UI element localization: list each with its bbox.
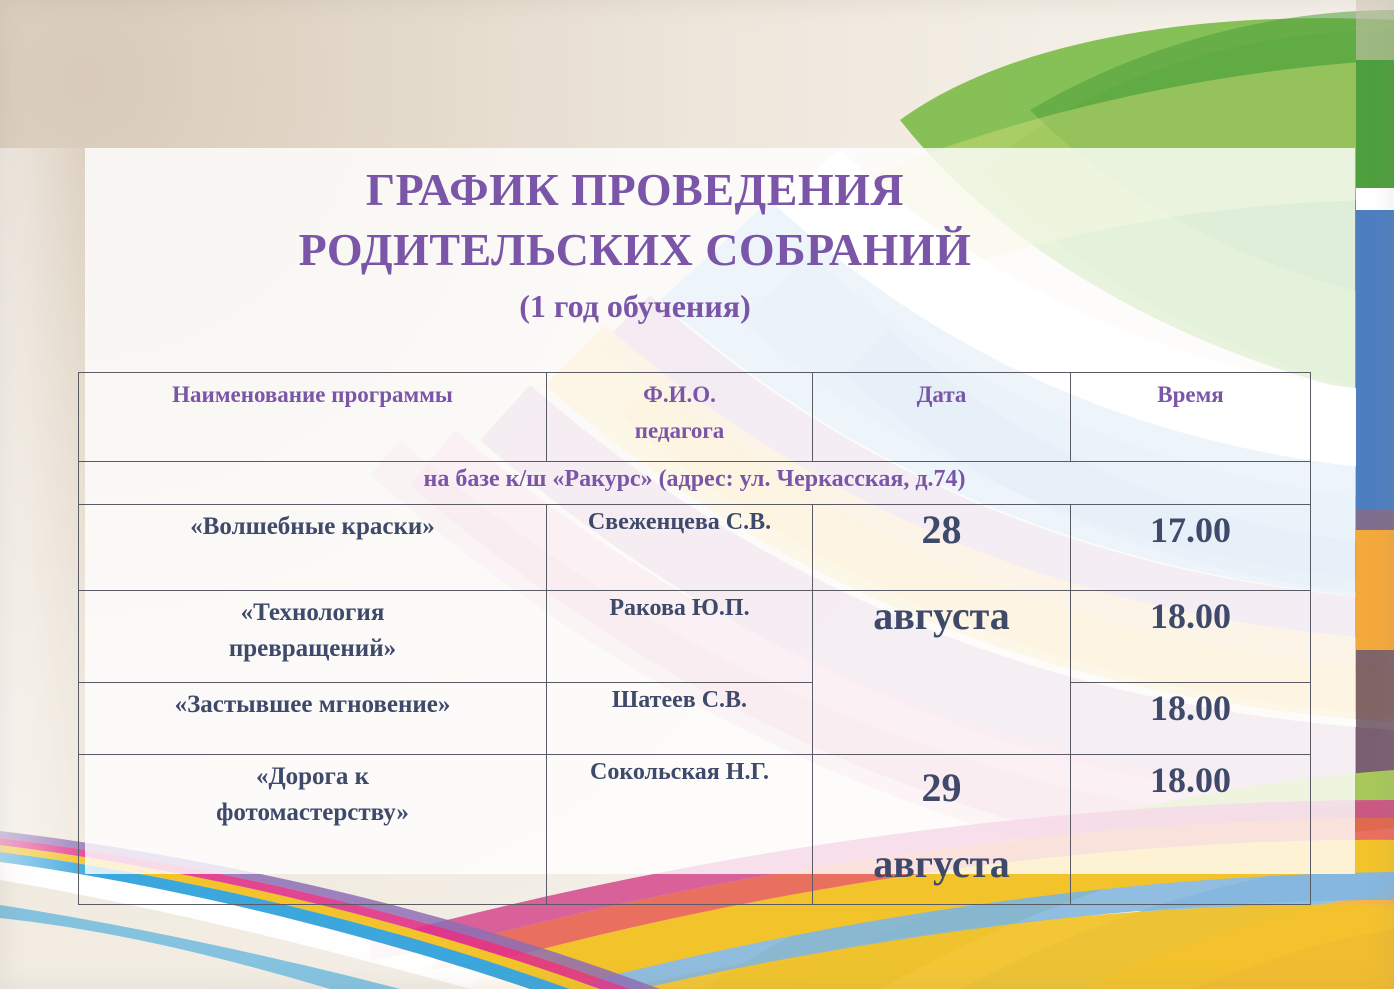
scan-vignette	[0, 0, 1394, 989]
poster-page: ГРАФИК ПРОВЕДЕНИЯ РОДИТЕЛЬСКИХ СОБРАНИЙ …	[0, 0, 1394, 989]
